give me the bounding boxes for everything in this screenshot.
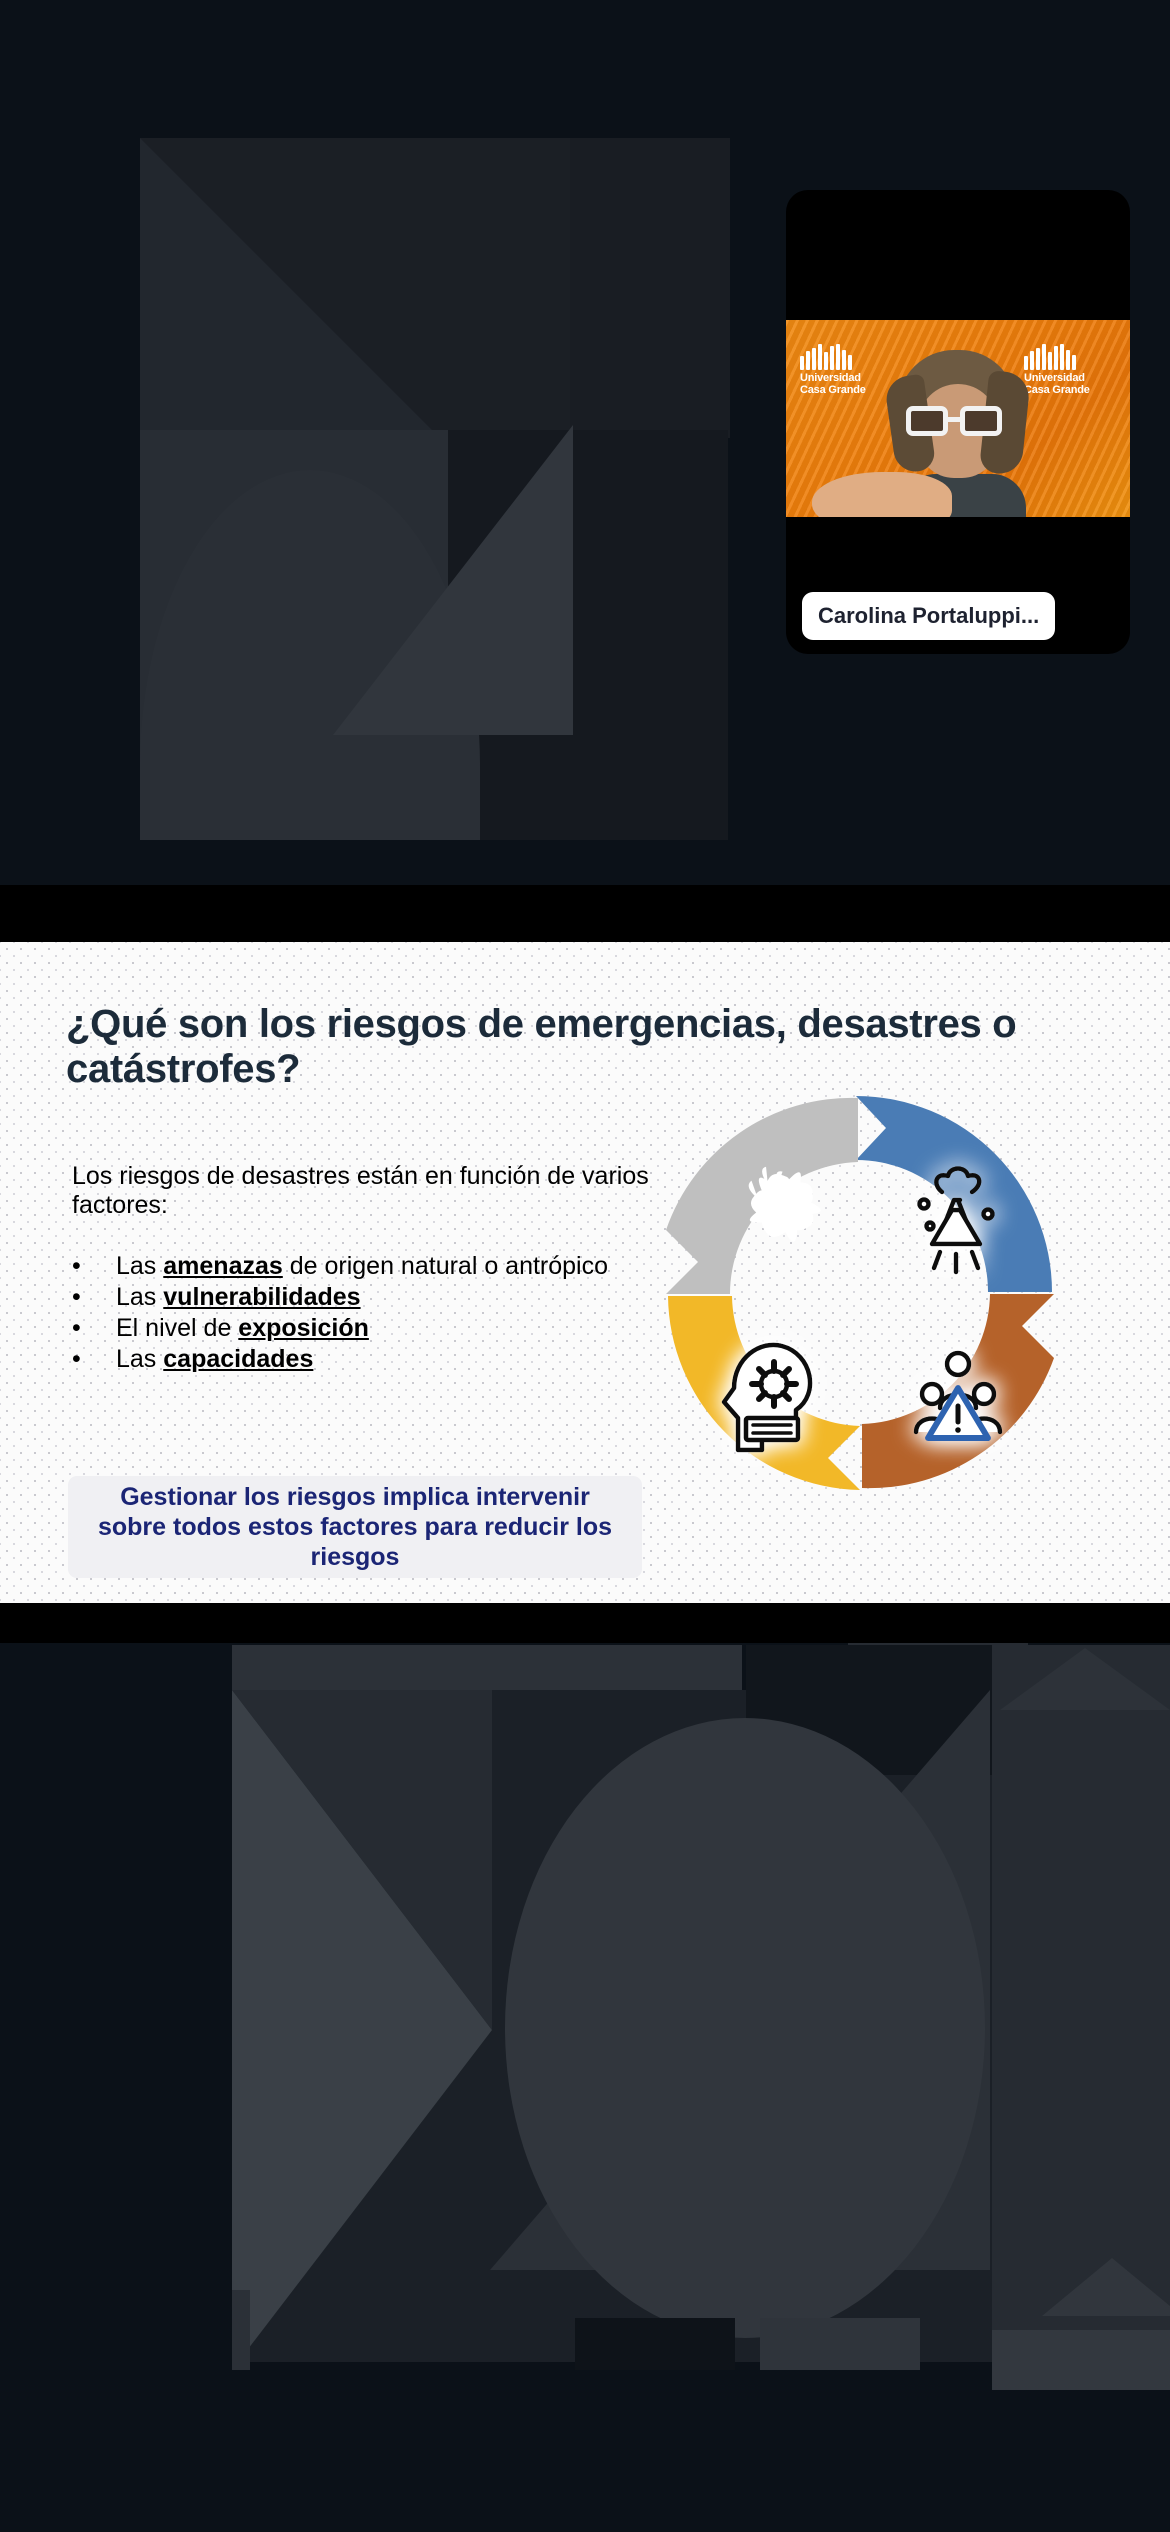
risk-factors-donut-chart bbox=[650, 1082, 1070, 1502]
backdrop-shape bbox=[760, 2318, 920, 2370]
slide-bullet-list: • Las amenazas de origen natural o antró… bbox=[72, 1252, 662, 1376]
participant-webcam-image bbox=[884, 350, 1034, 517]
logo-mark-icon bbox=[1024, 344, 1116, 370]
letterbox-bar-bottom bbox=[0, 1603, 1170, 1643]
logo-line-2: Casa Grande bbox=[800, 385, 892, 397]
bullet-marker-icon: • bbox=[72, 1345, 116, 1374]
shared-slide[interactable]: ¿Qué son los riesgos de emergencias, des… bbox=[0, 942, 1170, 1603]
backdrop-shape bbox=[1042, 2258, 1170, 2316]
screen: Universidad Casa Grande Universidad Casa… bbox=[0, 0, 1170, 2532]
letterbox-bar-top bbox=[0, 885, 1170, 942]
list-item: • Las vulnerabilidades bbox=[72, 1283, 662, 1312]
participant-video-tile[interactable]: Universidad Casa Grande Universidad Casa… bbox=[786, 190, 1130, 654]
bullet-content: Las capacidades bbox=[116, 1345, 662, 1374]
backdrop-shape bbox=[232, 1645, 742, 1695]
backdrop-shape bbox=[1000, 1648, 1170, 1710]
universidad-casa-grande-logo: Universidad Casa Grande bbox=[1024, 344, 1116, 396]
backdrop-shape bbox=[992, 1645, 1170, 2365]
backdrop-shape bbox=[575, 2318, 735, 2370]
backdrop-shape bbox=[992, 2330, 1170, 2390]
bullet-content: Las amenazas de origen natural o antrópi… bbox=[116, 1252, 662, 1281]
eyeglasses bbox=[906, 406, 1010, 436]
bullet-content: Las vulnerabilidades bbox=[116, 1283, 662, 1312]
bullet-content: El nivel de exposición bbox=[116, 1314, 662, 1343]
logo-line-2: Casa Grande bbox=[1024, 385, 1116, 397]
backdrop-shape bbox=[505, 1718, 985, 2338]
universidad-casa-grande-logo: Universidad Casa Grande bbox=[800, 344, 892, 396]
slide-intro-text: Los riesgos de desastres están en funció… bbox=[72, 1162, 652, 1219]
bullet-marker-icon: • bbox=[72, 1283, 116, 1312]
participant-name-label: Carolina Portaluppi... bbox=[802, 592, 1055, 640]
backdrop-shape bbox=[232, 2290, 250, 2370]
callout-box: Gestionar los riesgos implica intervenir… bbox=[68, 1476, 642, 1578]
logo-mark-icon bbox=[800, 344, 892, 370]
bullet-marker-icon: • bbox=[72, 1252, 116, 1281]
backdrop-shape bbox=[333, 425, 573, 735]
video-feed: Universidad Casa Grande Universidad Casa… bbox=[786, 320, 1130, 517]
list-item: • Las capacidades bbox=[72, 1345, 662, 1374]
list-item: • Las amenazas de origen natural o antró… bbox=[72, 1252, 662, 1281]
callout-text: Gestionar los riesgos implica intervenir… bbox=[84, 1482, 626, 1572]
bullet-marker-icon: • bbox=[72, 1314, 116, 1343]
slide-title: ¿Qué son los riesgos de emergencias, des… bbox=[66, 1002, 1126, 1092]
logo-line-1: Universidad bbox=[800, 373, 892, 385]
list-item: • El nivel de exposición bbox=[72, 1314, 662, 1343]
logo-line-1: Universidad bbox=[1024, 373, 1116, 385]
backdrop-shape bbox=[232, 1690, 492, 2030]
